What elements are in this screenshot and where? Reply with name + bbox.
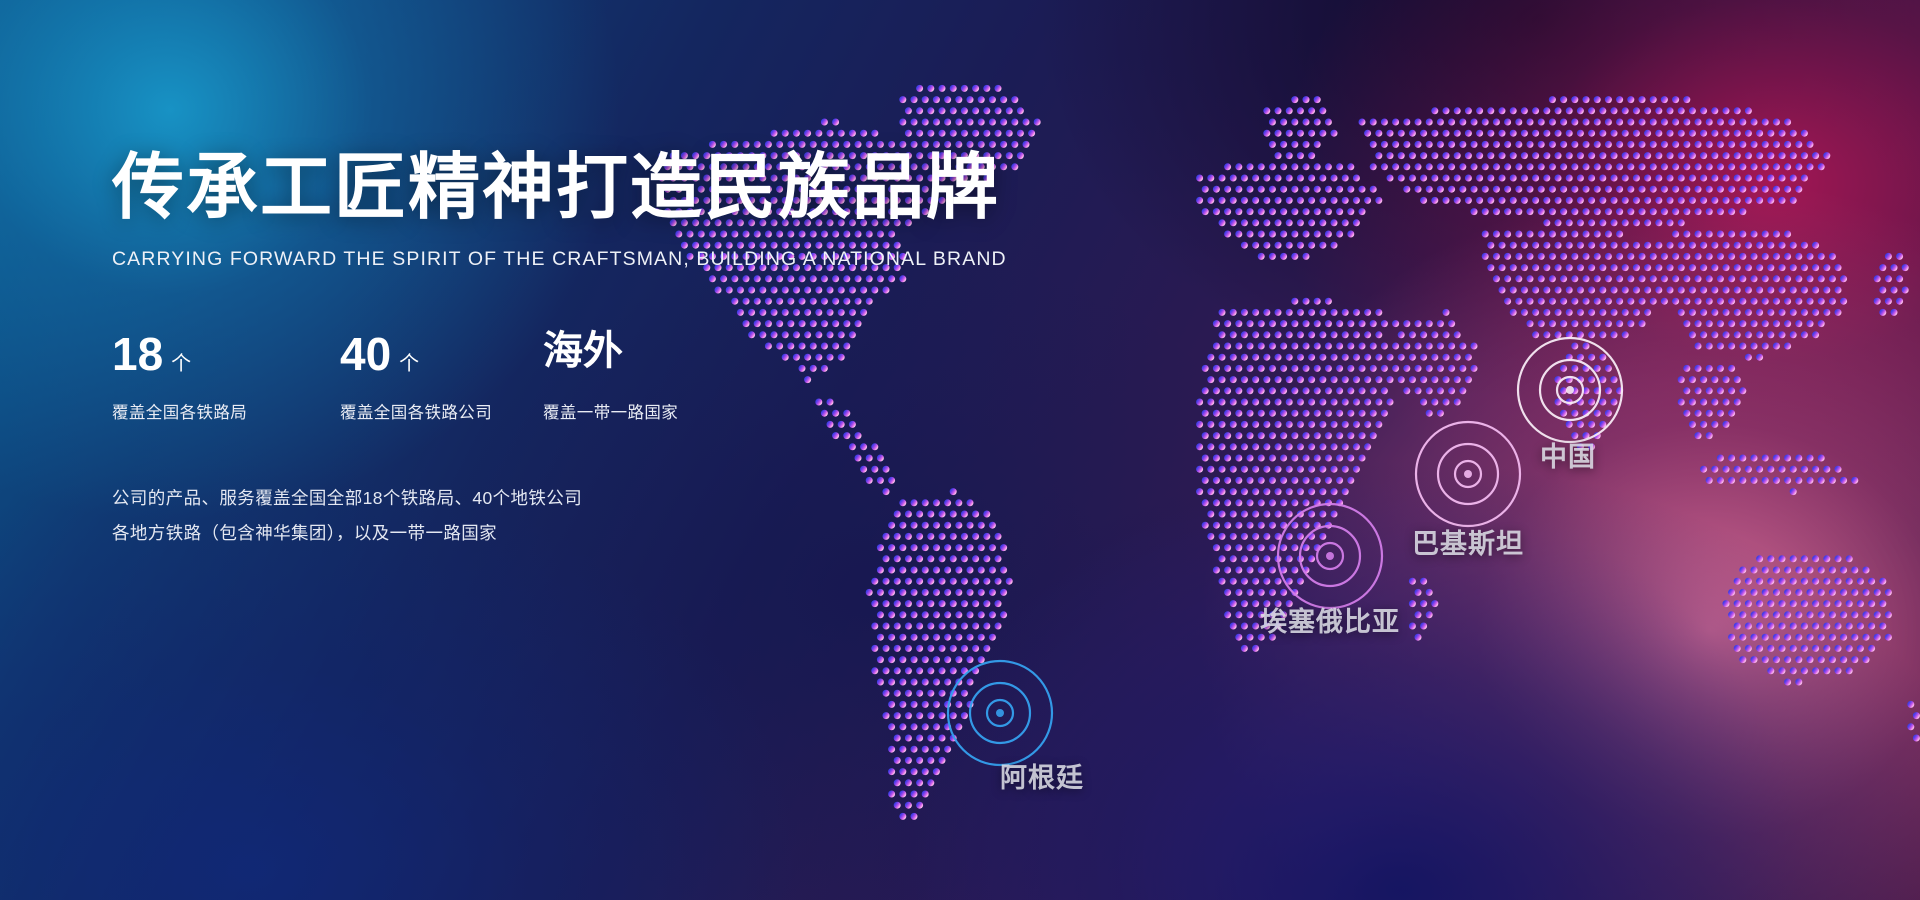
stat-caption: 覆盖全国各铁路局 — [112, 399, 340, 423]
page-subtitle: CARRYING FORWARD THE SPIRIT OF THE CRAFT… — [112, 248, 952, 271]
stat-unit: 个 — [171, 354, 191, 374]
stat-value-row: 18个 — [112, 331, 340, 383]
map-marker-label: 中国 — [1540, 435, 1596, 474]
map-marker-pin[interactable] — [1406, 412, 1530, 536]
stat-value-row: 40个 — [340, 331, 543, 383]
stat-item: 18个覆盖全国各铁路局 — [112, 331, 340, 423]
stat-unit: 个 — [399, 354, 419, 374]
map-marker-label: 巴基斯坦 — [1412, 522, 1524, 561]
stat-number: 40 — [340, 331, 391, 377]
description-line-1: 公司的产品、服务覆盖全国全部18个铁路局、40个地铁公司 — [112, 481, 952, 516]
map-marker-label: 阿根廷 — [1000, 756, 1084, 795]
hero-banner: 中国巴基斯坦埃塞俄比亚阿根廷 传承工匠精神打造民族品牌 CARRYING FOR… — [0, 0, 1920, 900]
map-marker-label: 埃塞俄比亚 — [1260, 600, 1400, 639]
stats-row: 18个覆盖全国各铁路局40个覆盖全国各铁路公司海外覆盖一带一路国家 — [112, 331, 952, 423]
stat-caption: 覆盖一带一路国家 — [543, 399, 678, 423]
description-line-2: 各地方铁路（包含神华集团），以及一带一路国家 — [112, 516, 952, 551]
stat-caption: 覆盖全国各铁路公司 — [340, 399, 543, 423]
stat-item: 海外覆盖一带一路国家 — [543, 331, 678, 423]
description-paragraph: 公司的产品、服务覆盖全国全部18个铁路局、40个地铁公司 各地方铁路（包含神华集… — [112, 481, 952, 551]
stat-number: 海外 — [543, 331, 623, 371]
stat-number: 18 — [112, 331, 163, 377]
page-title: 传承工匠精神打造民族品牌 — [112, 150, 952, 226]
stat-item: 40个覆盖全国各铁路公司 — [340, 331, 543, 423]
hero-content: 传承工匠精神打造民族品牌 CARRYING FORWARD THE SPIRIT… — [112, 150, 952, 551]
stat-value-row: 海外 — [543, 331, 678, 383]
